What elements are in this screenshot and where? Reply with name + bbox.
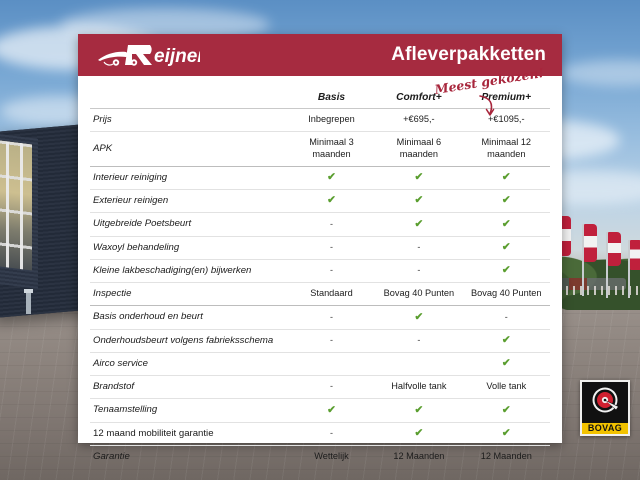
cell-basis: - bbox=[288, 213, 375, 236]
cell-comfort: 12 Maanden bbox=[375, 445, 462, 468]
screenshot-stage: eijnen Afleverpakketten Basis Comfort+ P… bbox=[0, 0, 640, 480]
dash-marker: - bbox=[330, 428, 333, 438]
package-card: eijnen Afleverpakketten Basis Comfort+ P… bbox=[78, 34, 562, 443]
cell-premium: ✔ bbox=[463, 329, 550, 352]
cell-basis: ✔ bbox=[288, 166, 375, 189]
check-icon: ✔ bbox=[502, 241, 511, 253]
background-bollard bbox=[26, 292, 31, 314]
reijnen-logo-icon: eijnen bbox=[96, 41, 200, 69]
cell-basis: - bbox=[288, 329, 375, 352]
check-icon: ✔ bbox=[502, 218, 511, 230]
cell-basis: - bbox=[288, 306, 375, 329]
table-row: Kleine lakbeschadiging(en) bijwerken--✔ bbox=[90, 259, 550, 282]
table-head: Basis Comfort+ Premium+ bbox=[90, 76, 550, 109]
dash-marker: - bbox=[330, 381, 333, 391]
check-icon: ✔ bbox=[502, 194, 511, 206]
cell-premium: - bbox=[463, 306, 550, 329]
bovag-badge-inner: BOVAG bbox=[582, 382, 628, 434]
cell-comfort: - bbox=[375, 236, 462, 259]
dash-marker: - bbox=[330, 219, 333, 229]
window-mullions bbox=[0, 140, 32, 271]
dash-marker: - bbox=[330, 242, 333, 252]
package-comparison-table: Basis Comfort+ Premium+ PrijsInbegrepen+… bbox=[90, 76, 550, 468]
check-icon: ✔ bbox=[414, 171, 423, 183]
cell-comfort: ✔ bbox=[375, 190, 462, 213]
cell-basis: Standaard bbox=[288, 283, 375, 306]
cell-comfort: Bovag 40 Punten bbox=[375, 283, 462, 306]
table-row: Tenaamstelling✔✔✔ bbox=[90, 399, 550, 422]
table-row: Onderhoudsbeurt volgens fabrieksschema--… bbox=[90, 329, 550, 352]
row-label: Inspectie bbox=[90, 283, 288, 306]
row-label: Onderhoudsbeurt volgens fabrieksschema bbox=[90, 329, 288, 352]
table-row: Interieur reiniging✔✔✔ bbox=[90, 166, 550, 189]
bovag-emblem-icon bbox=[588, 384, 622, 416]
dash-marker: - bbox=[417, 335, 420, 345]
row-label: APK bbox=[90, 132, 288, 167]
check-icon: ✔ bbox=[414, 404, 423, 416]
table-row: PrijsInbegrepen+€695,-+€1095,- bbox=[90, 109, 550, 132]
cell-premium: +€1095,- bbox=[463, 109, 550, 132]
table-row: APKMinimaal 3 maandenMinimaal 6 maandenM… bbox=[90, 132, 550, 167]
cell-premium: Volle tank bbox=[463, 376, 550, 399]
svg-text:eijnen: eijnen bbox=[154, 46, 200, 67]
check-icon: ✔ bbox=[414, 311, 423, 323]
column-header-comfort: Comfort+ bbox=[375, 76, 462, 109]
table-row: Basis onderhoud en beurt-✔- bbox=[90, 306, 550, 329]
check-icon: ✔ bbox=[327, 404, 336, 416]
dash-marker: - bbox=[330, 335, 333, 345]
cell-premium: 12 Maanden bbox=[463, 445, 550, 468]
column-header-basis: Basis bbox=[288, 76, 375, 109]
table-row: GarantieWettelijk12 Maanden12 Maanden bbox=[90, 445, 550, 468]
cell-basis: - bbox=[288, 259, 375, 282]
cell-premium: ✔ bbox=[463, 236, 550, 259]
row-label: Brandstof bbox=[90, 376, 288, 399]
dealer-flag bbox=[608, 232, 621, 266]
cell-basis: ✔ bbox=[288, 399, 375, 422]
cell-premium: ✔ bbox=[463, 422, 550, 445]
dealer-flag bbox=[584, 224, 597, 262]
check-icon: ✔ bbox=[414, 194, 423, 206]
check-icon: ✔ bbox=[502, 264, 511, 276]
cell-comfort: ✔ bbox=[375, 399, 462, 422]
reijnen-logo[interactable]: eijnen bbox=[96, 41, 200, 69]
row-label: Basis onderhoud en beurt bbox=[90, 306, 288, 329]
page-title: Afleverpakketten bbox=[391, 44, 546, 66]
dash-marker: - bbox=[417, 265, 420, 275]
cell-comfort: Minimaal 6 maanden bbox=[375, 132, 462, 167]
cell-premium: ✔ bbox=[463, 166, 550, 189]
check-icon: ✔ bbox=[414, 427, 423, 439]
cell-basis: - bbox=[288, 422, 375, 445]
cell-premium: ✔ bbox=[463, 399, 550, 422]
table-row: Uitgebreide Poetsbeurt-✔✔ bbox=[90, 213, 550, 236]
check-icon: ✔ bbox=[502, 427, 511, 439]
row-label: Exterieur reinigen bbox=[90, 190, 288, 213]
cell-comfort: ✔ bbox=[375, 213, 462, 236]
check-icon: ✔ bbox=[327, 171, 336, 183]
dash-marker: - bbox=[330, 312, 333, 322]
check-icon: ✔ bbox=[502, 334, 511, 346]
check-icon: ✔ bbox=[502, 404, 511, 416]
table-body: PrijsInbegrepen+€695,-+€1095,-APKMinimaa… bbox=[90, 109, 550, 469]
row-label: Tenaamstelling bbox=[90, 399, 288, 422]
cell-premium: ✔ bbox=[463, 259, 550, 282]
column-header-premium: Premium+ bbox=[463, 76, 550, 109]
bovag-label: BOVAG bbox=[582, 423, 628, 434]
check-icon: ✔ bbox=[502, 171, 511, 183]
cell-premium: Bovag 40 Punten bbox=[463, 283, 550, 306]
cell-basis bbox=[288, 352, 375, 375]
dash-marker: - bbox=[505, 312, 508, 322]
background-building-windows bbox=[0, 140, 32, 271]
column-header-blank bbox=[90, 76, 288, 109]
check-icon: ✔ bbox=[502, 357, 511, 369]
cell-premium: ✔ bbox=[463, 352, 550, 375]
cell-premium: ✔ bbox=[463, 190, 550, 213]
table-row: 12 maand mobiliteit garantie-✔✔ bbox=[90, 422, 550, 445]
dash-marker: - bbox=[330, 265, 333, 275]
row-label: Garantie bbox=[90, 445, 288, 468]
row-label: Interieur reiniging bbox=[90, 166, 288, 189]
package-table-wrap: Basis Comfort+ Premium+ PrijsInbegrepen+… bbox=[78, 76, 562, 468]
row-label: Prijs bbox=[90, 109, 288, 132]
cell-comfort: - bbox=[375, 259, 462, 282]
cell-basis: Minimaal 3 maanden bbox=[288, 132, 375, 167]
cell-comfort: ✔ bbox=[375, 306, 462, 329]
cell-basis: Wettelijk bbox=[288, 445, 375, 468]
cell-premium: Minimaal 12 maanden bbox=[463, 132, 550, 167]
card-header: eijnen Afleverpakketten bbox=[78, 34, 562, 76]
row-label: Waxoyl behandeling bbox=[90, 236, 288, 259]
row-label: Kleine lakbeschadiging(en) bijwerken bbox=[90, 259, 288, 282]
bovag-badge: BOVAG bbox=[580, 380, 630, 436]
cell-basis: ✔ bbox=[288, 190, 375, 213]
table-row: Brandstof-Halfvolle tankVolle tank bbox=[90, 376, 550, 399]
check-icon: ✔ bbox=[327, 194, 336, 206]
cell-comfort: Halfvolle tank bbox=[375, 376, 462, 399]
cell-basis: - bbox=[288, 236, 375, 259]
cell-premium: ✔ bbox=[463, 213, 550, 236]
cell-comfort: ✔ bbox=[375, 166, 462, 189]
cell-comfort: +€695,- bbox=[375, 109, 462, 132]
table-row: Exterieur reinigen✔✔✔ bbox=[90, 190, 550, 213]
cell-comfort: - bbox=[375, 329, 462, 352]
check-icon: ✔ bbox=[414, 218, 423, 230]
cell-comfort bbox=[375, 352, 462, 375]
cell-basis: - bbox=[288, 376, 375, 399]
cell-comfort: ✔ bbox=[375, 422, 462, 445]
row-label: Uitgebreide Poetsbeurt bbox=[90, 213, 288, 236]
row-label: 12 maand mobiliteit garantie bbox=[90, 422, 288, 445]
dealer-flag bbox=[630, 240, 640, 270]
dash-marker: - bbox=[417, 242, 420, 252]
row-label: Airco service bbox=[90, 352, 288, 375]
table-header-row: Basis Comfort+ Premium+ bbox=[90, 76, 550, 109]
table-row: InspectieStandaardBovag 40 PuntenBovag 4… bbox=[90, 283, 550, 306]
table-row: Airco service✔ bbox=[90, 352, 550, 375]
cell-basis: Inbegrepen bbox=[288, 109, 375, 132]
table-row: Waxoyl behandeling--✔ bbox=[90, 236, 550, 259]
